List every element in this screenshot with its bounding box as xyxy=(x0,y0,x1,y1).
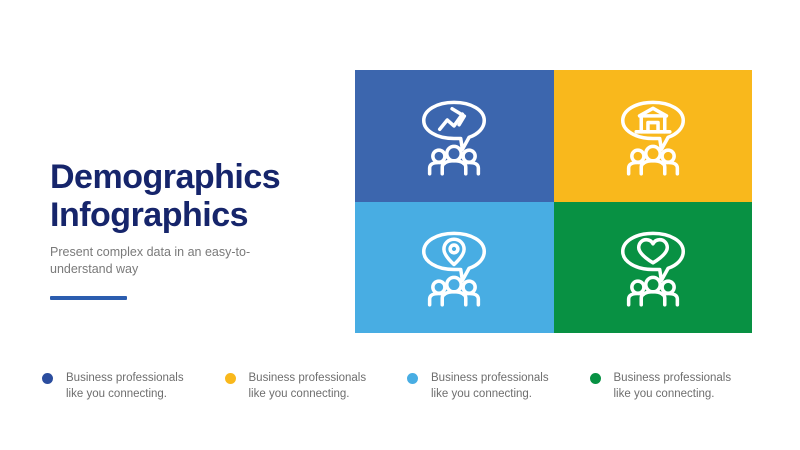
slide-canvas: Demographics Infographics Present comple… xyxy=(0,0,800,450)
speech-bubble-growth-chart-people-icon xyxy=(412,94,496,178)
legend-item-label: Business professionals like you connecti… xyxy=(431,370,559,402)
legend: Business professionals like you connecti… xyxy=(42,370,772,402)
legend-dot-icon xyxy=(407,373,418,384)
legend-dot-icon xyxy=(590,373,601,384)
legend-item-label: Business professionals like you connecti… xyxy=(249,370,377,402)
text-column: Demographics Infographics Present comple… xyxy=(50,158,320,300)
speech-bubble-storefront-people-icon xyxy=(611,94,695,178)
list-item[interactable]: Business professionals like you connecti… xyxy=(407,370,590,402)
legend-item-label: Business professionals like you connecti… xyxy=(66,370,194,402)
accent-bar-divider xyxy=(50,296,127,300)
list-item[interactable]: Business professionals like you connecti… xyxy=(590,370,773,402)
quadrant-grid xyxy=(355,70,752,333)
quadrant-bottom-left[interactable] xyxy=(355,202,554,334)
quadrant-top-right[interactable] xyxy=(554,70,753,202)
list-item[interactable]: Business professionals like you connecti… xyxy=(42,370,225,402)
page-subtitle: Present complex data in an easy-to-under… xyxy=(50,244,260,278)
speech-bubble-location-pin-people-icon xyxy=(412,225,496,309)
legend-item-label: Business professionals like you connecti… xyxy=(614,370,742,402)
quadrant-bottom-right[interactable] xyxy=(554,202,753,334)
quadrant-top-left[interactable] xyxy=(355,70,554,202)
legend-dot-icon xyxy=(225,373,236,384)
page-title: Demographics Infographics xyxy=(50,158,320,234)
list-item[interactable]: Business professionals like you connecti… xyxy=(225,370,408,402)
legend-dot-icon xyxy=(42,373,53,384)
speech-bubble-heart-people-icon xyxy=(611,225,695,309)
